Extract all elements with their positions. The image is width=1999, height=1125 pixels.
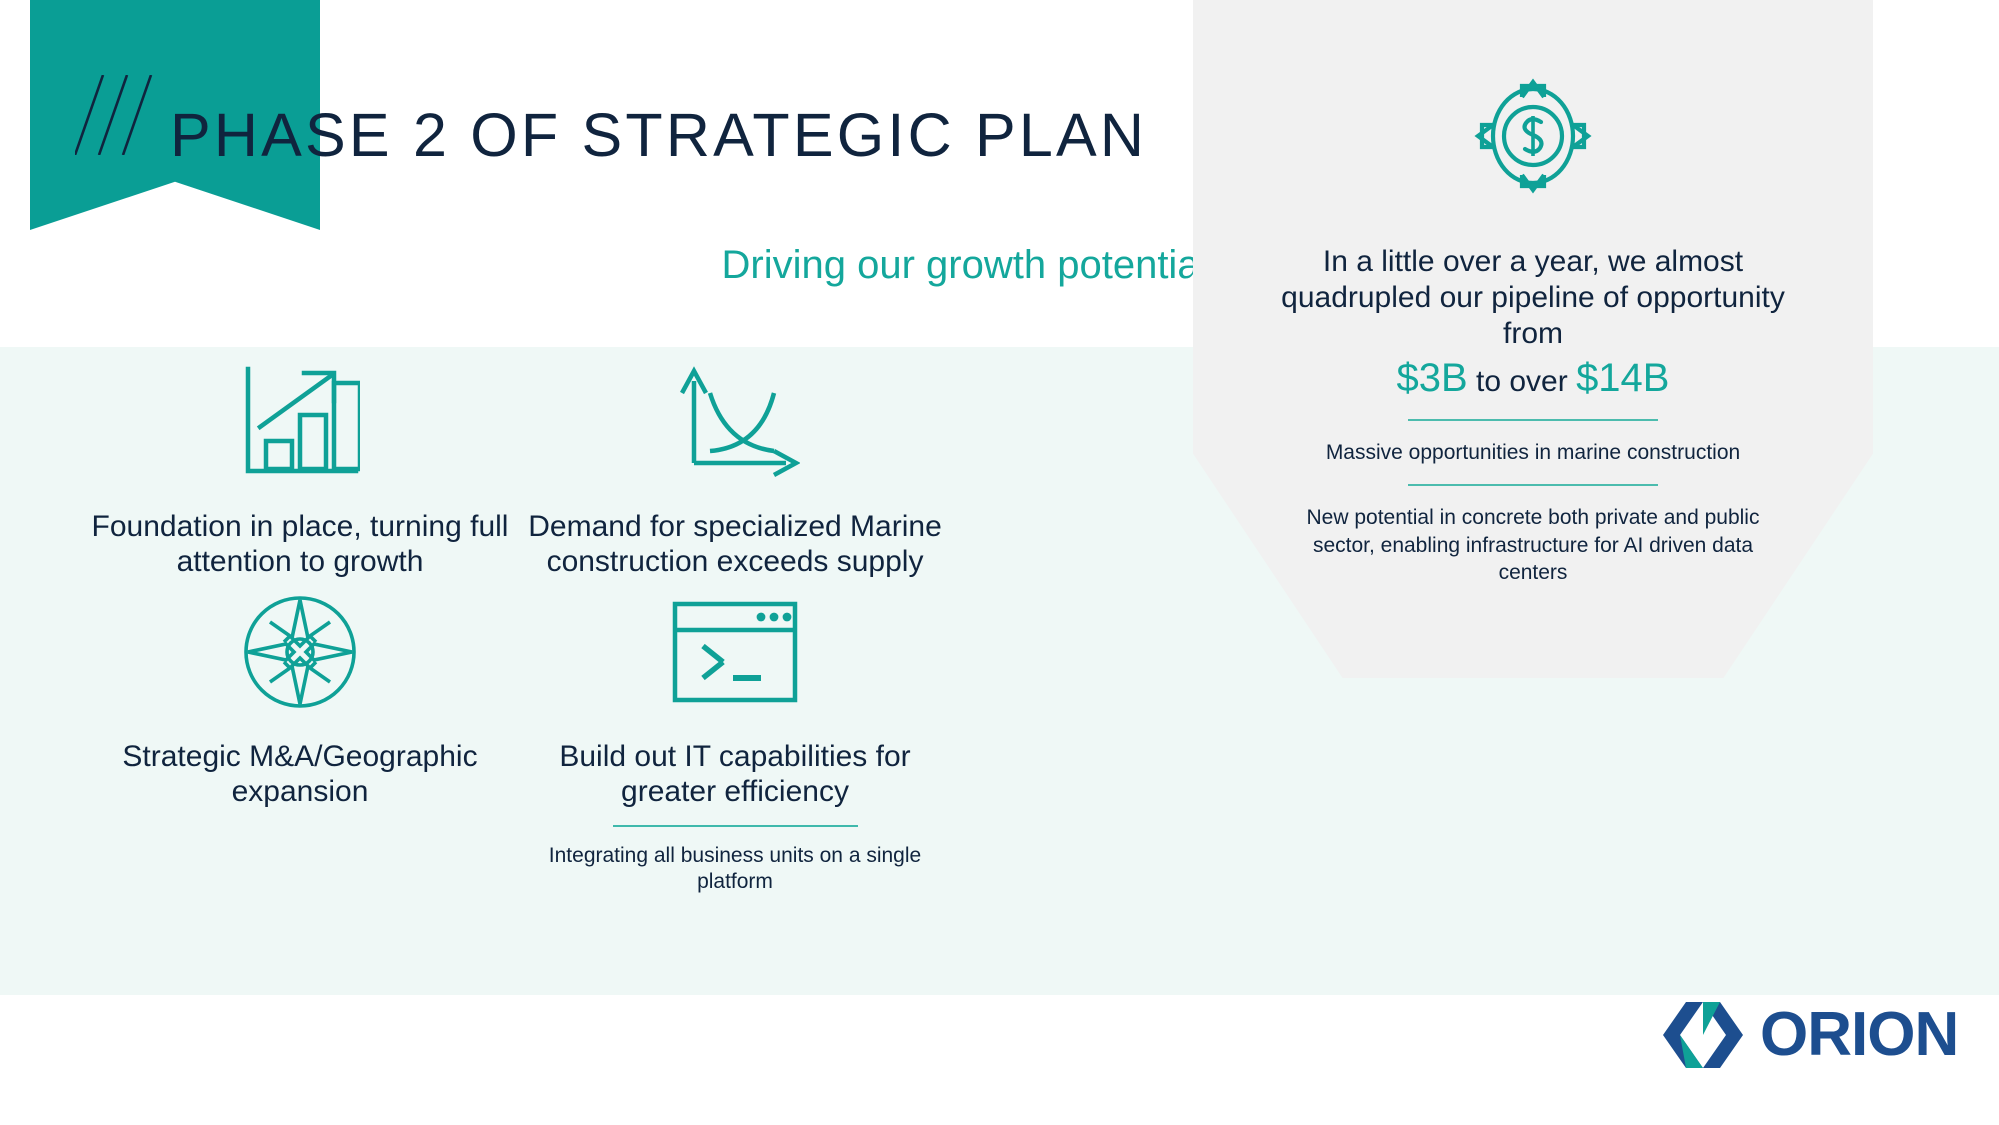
highlight-figures: $3B to over $14B [1193, 356, 1873, 401]
amount-from: $3B [1397, 356, 1468, 400]
feature-foundation: Foundation in place, turning full attent… [85, 357, 515, 579]
amount-to: $14B [1576, 356, 1669, 400]
orion-chevron-mark-icon [1660, 1002, 1746, 1068]
terminal-window-icon [515, 587, 955, 717]
highlight-headline: In a little over a year, we almost quadr… [1193, 244, 1873, 352]
feature-label: Strategic M&A/Geographic expansion [85, 739, 515, 809]
feature-subtext: Integrating all business units on a sing… [515, 843, 955, 896]
highlight-note-one: Massive opportunities in marine construc… [1193, 439, 1873, 466]
page-title: PHASE 2 OF STRATEGIC PLAN [170, 100, 1147, 170]
feature-label: Foundation in place, turning full attent… [85, 509, 515, 579]
highlight-note-two: New potential in concrete both private a… [1193, 504, 1873, 586]
feature-it-capabilities: Build out IT capabilities for greater ef… [515, 587, 955, 896]
orion-wordmark: ORION [1760, 1004, 1958, 1066]
feature-demand: Demand for specialized Marine constructi… [515, 357, 955, 579]
feature-label: Demand for specialized Marine constructi… [515, 509, 955, 579]
divider-top [1408, 419, 1658, 421]
supply-demand-curve-icon [515, 357, 955, 487]
compass-rose-icon [85, 587, 515, 717]
highlight-panel: In a little over a year, we almost quadr… [1193, 0, 1873, 678]
dollar-expansion-arrows-icon [1193, 56, 1873, 216]
divider [613, 825, 858, 827]
divider-bottom [1408, 484, 1658, 486]
orion-logo: ORION [1660, 1002, 1958, 1068]
amount-connector: to over [1468, 365, 1576, 398]
triple-slash-mark-icon [75, 75, 165, 155]
feature-label: Build out IT capabilities for greater ef… [515, 739, 955, 809]
feature-ma-expansion: Strategic M&A/Geographic expansion [85, 587, 515, 809]
bar-chart-growth-icon [85, 357, 515, 487]
